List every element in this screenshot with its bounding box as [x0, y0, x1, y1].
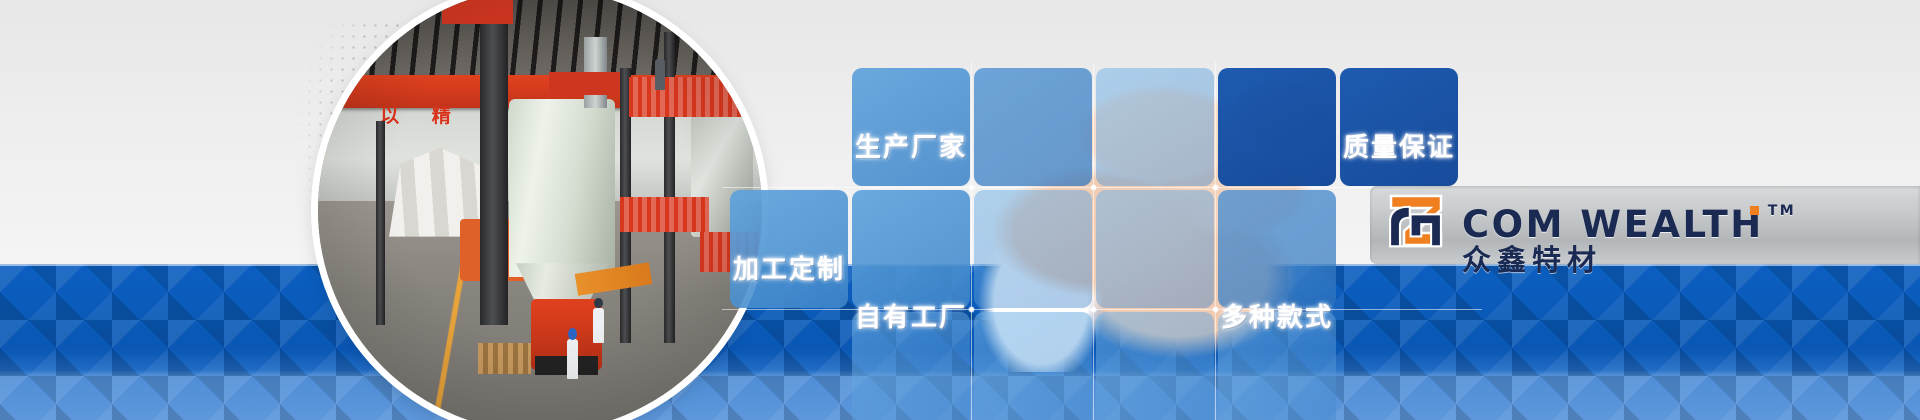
tile-r1c4[interactable]: [1218, 68, 1336, 186]
z-monogram-icon: [1386, 193, 1452, 257]
logo-wordmark: COM WEALTHTM 众鑫特材: [1462, 190, 1796, 275]
tile-styles[interactable]: 多种款式: [1218, 312, 1336, 420]
tile-quality[interactable]: 质量保证: [1340, 68, 1458, 186]
tile-r3c2[interactable]: [974, 312, 1092, 420]
photo-vignette: [318, 0, 762, 420]
tile-manufacturer-label: 生产厂家: [852, 127, 970, 164]
tile-manufacturer[interactable]: 生产厂家: [852, 68, 970, 186]
photo-scene: 以 精 立 业: [318, 0, 762, 420]
tile-r1c3[interactable]: [1096, 68, 1214, 186]
tile-r1c2[interactable]: [974, 68, 1092, 186]
logo-english-text: COM WEALTH: [1462, 203, 1764, 246]
tile-r2c1[interactable]: [852, 190, 970, 308]
tile-r2c3[interactable]: [1096, 190, 1214, 308]
tile-r2c2[interactable]: [974, 190, 1092, 308]
trademark-symbol: TM: [1768, 203, 1796, 219]
tile-styles-label: 多种款式: [1218, 297, 1336, 334]
tile-custom[interactable]: 加工定制: [730, 190, 848, 308]
tile-own-factory[interactable]: 自有工厂: [852, 312, 970, 420]
tile-quality-label: 质量保证: [1340, 127, 1458, 164]
com-wealth-logo[interactable]: COM WEALTHTM 众鑫特材: [1370, 186, 1920, 264]
promo-banner: 以 精 立 业: [0, 0, 1920, 420]
tile-r3c3[interactable]: [1096, 312, 1214, 420]
tile-r2c4[interactable]: [1218, 190, 1336, 308]
tile-own-factory-label: 自有工厂: [852, 297, 970, 334]
factory-workshop-photo: 以 精 立 业: [318, 0, 762, 420]
orange-dot-icon: [1750, 206, 1759, 215]
logo-english: COM WEALTHTM: [1462, 190, 1796, 246]
tile-custom-label: 加工定制: [730, 249, 848, 286]
logo-chinese: 众鑫特材: [1462, 245, 1796, 275]
